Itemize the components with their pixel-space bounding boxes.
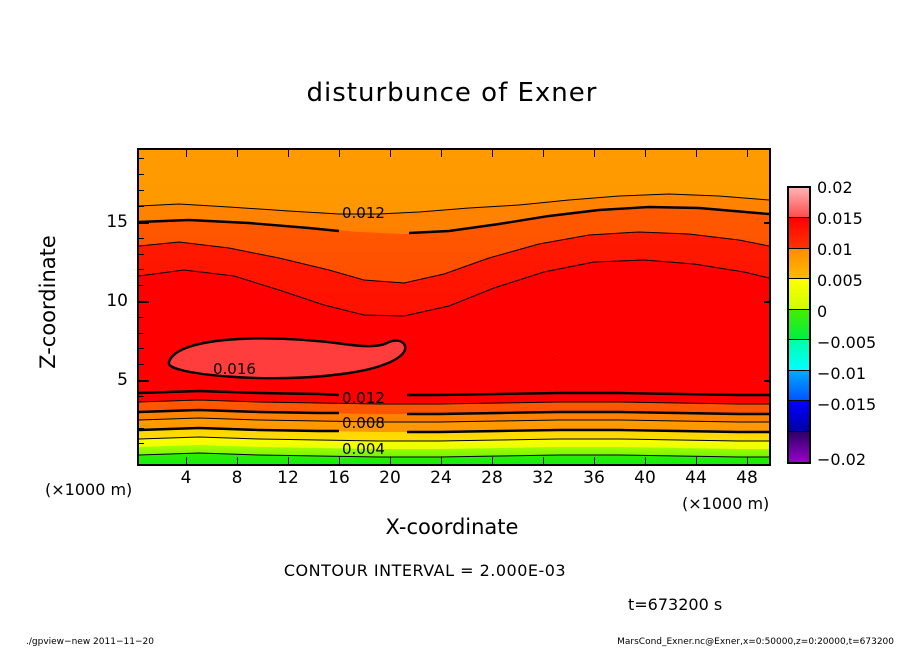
colorbar-label-4: 0 <box>817 302 827 321</box>
colorbar-band-5 <box>789 340 809 370</box>
x-tick-label-32: 32 <box>523 468 563 488</box>
x-axis-unit: (×1000 m) <box>682 494 769 513</box>
time-annotation: t=673200 s <box>628 595 722 614</box>
y-axis-unit: (×1000 m) <box>45 480 132 499</box>
x-tick-label-24: 24 <box>421 468 461 488</box>
colorbar-band-2 <box>789 249 809 279</box>
x-tick-label-20: 20 <box>370 468 410 488</box>
contour-label-0008: 0.008 <box>342 414 385 432</box>
y-tick-label-5: 5 <box>88 370 128 390</box>
colorbar-band-3 <box>789 279 809 309</box>
x-tick-label-36: 36 <box>574 468 614 488</box>
y-tick-label-15: 15 <box>88 212 128 232</box>
colorbar-band-8 <box>789 432 809 462</box>
y-tick-label-10: 10 <box>88 291 128 311</box>
x-tick-label-44: 44 <box>676 468 716 488</box>
contour-plot-area <box>137 148 771 466</box>
colorbar-label-5: −0.005 <box>817 333 876 352</box>
footer-datasource: MarsCond_Exner.nc@Exner,x=0:50000,z=0:20… <box>617 637 894 647</box>
x-tick-label-40: 40 <box>625 468 665 488</box>
contour-interval-note: CONTOUR INTERVAL = 2.000E-03 <box>0 561 850 580</box>
x-tick-label-48: 48 <box>727 468 767 488</box>
contour-label-0012-lower: 0.012 <box>342 389 385 407</box>
x-axis-title: X-coordinate <box>0 515 904 539</box>
contour-label-0012-upper: 0.012 <box>342 204 385 222</box>
colorbar-label-8: −0.02 <box>817 450 866 469</box>
x-tick-label-8: 8 <box>217 468 257 488</box>
colorbar-label-6: −0.01 <box>817 364 866 383</box>
contour-label-0016: 0.016 <box>213 360 256 378</box>
colorbar-band-6 <box>789 371 809 401</box>
x-tick-label-4: 4 <box>166 468 206 488</box>
x-tick-label-12: 12 <box>268 468 308 488</box>
page-title: disturbunce of Exner <box>0 78 904 108</box>
colorbar-label-2: 0.01 <box>817 240 853 259</box>
colorbar <box>787 186 811 464</box>
x-tick-label-28: 28 <box>472 468 512 488</box>
contour-label-0004: 0.004 <box>342 440 385 458</box>
colorbar-band-4 <box>789 310 809 340</box>
x-tick-label-16: 16 <box>319 468 359 488</box>
colorbar-band-0 <box>789 188 809 218</box>
colorbar-label-1: 0.015 <box>817 209 863 228</box>
colorbar-label-0: 0.02 <box>817 178 853 197</box>
colorbar-band-7 <box>789 401 809 431</box>
contour-fill <box>139 150 769 464</box>
colorbar-label-7: −0.015 <box>817 395 876 414</box>
colorbar-label-3: 0.005 <box>817 271 863 290</box>
y-axis-title: Z-coordinate <box>36 192 60 412</box>
footer-command: ./gpview−new 2011−11−20 <box>26 637 154 647</box>
contour-bands-and-lines <box>139 150 769 464</box>
colorbar-band-1 <box>789 218 809 248</box>
